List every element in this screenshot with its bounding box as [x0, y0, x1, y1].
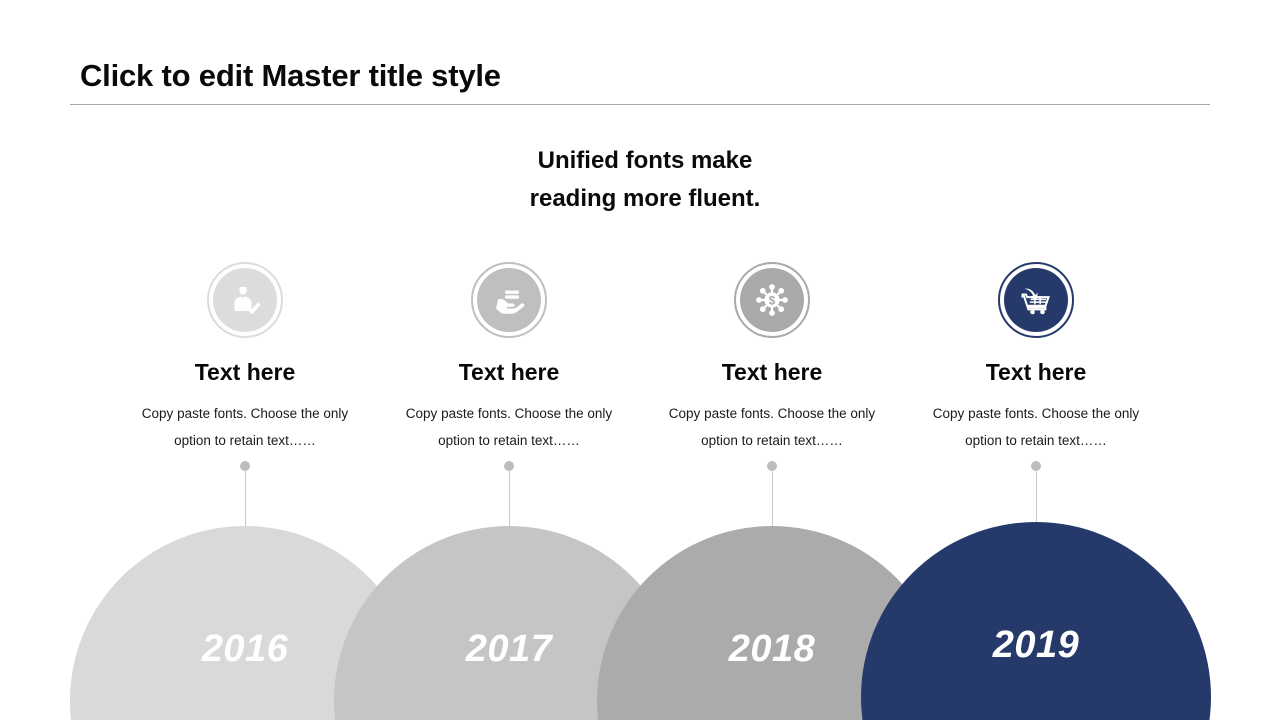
money-network-icon-badge[interactable]: $: [734, 262, 810, 338]
connector-4: [1031, 461, 1041, 531]
column-body-text: Copy paste fonts. Choose the only option…: [377, 401, 641, 454]
column-heading: Text here: [904, 360, 1168, 385]
subtitle-line-1: Unified fonts make: [440, 142, 850, 180]
subtitle-line-2: reading more fluent.: [440, 180, 850, 218]
hand-money-icon: [489, 280, 529, 320]
connector-3: [767, 461, 777, 531]
column-body-text: Copy paste fonts. Choose the only option…: [904, 401, 1168, 454]
connector-line: [245, 470, 246, 532]
shopping-cart-icon-badge[interactable]: [998, 262, 1074, 338]
connector-2: [504, 461, 514, 531]
column-heading: Text here: [377, 360, 641, 385]
user-check-icon: [225, 280, 265, 320]
slide-canvas: Click to edit Master title style Unified…: [0, 0, 1280, 720]
year-circle-2019[interactable]: 2019: [861, 522, 1211, 720]
column-body-text: Copy paste fonts. Choose the only option…: [640, 401, 904, 454]
svg-text:$: $: [769, 295, 776, 307]
timeline-column-2: Text here Copy paste fonts. Choose the o…: [377, 262, 641, 454]
subtitle[interactable]: Unified fonts make reading more fluent.: [440, 142, 850, 218]
shopping-cart-icon: [1016, 280, 1056, 320]
hand-money-icon-badge[interactable]: [471, 262, 547, 338]
page-title[interactable]: Click to edit Master title style: [80, 58, 501, 94]
year-label: 2018: [729, 628, 816, 671]
column-body-text: Copy paste fonts. Choose the only option…: [113, 401, 377, 454]
connector-line: [509, 470, 510, 532]
column-heading: Text here: [113, 360, 377, 385]
connector-1: [240, 461, 250, 531]
timeline-column-3: $ Text here Copy paste fonts. Choose the…: [640, 262, 904, 454]
year-label: 2017: [466, 628, 553, 671]
year-label: 2016: [202, 628, 289, 671]
year-label: 2019: [993, 624, 1080, 667]
user-check-icon-badge[interactable]: [207, 262, 283, 338]
connector-line: [772, 470, 773, 532]
column-heading: Text here: [640, 360, 904, 385]
timeline-column-1: Text here Copy paste fonts. Choose the o…: [113, 262, 377, 454]
timeline-column-4: Text here Copy paste fonts. Choose the o…: [904, 262, 1168, 454]
money-network-icon: $: [752, 280, 792, 320]
title-divider: [70, 104, 1210, 105]
